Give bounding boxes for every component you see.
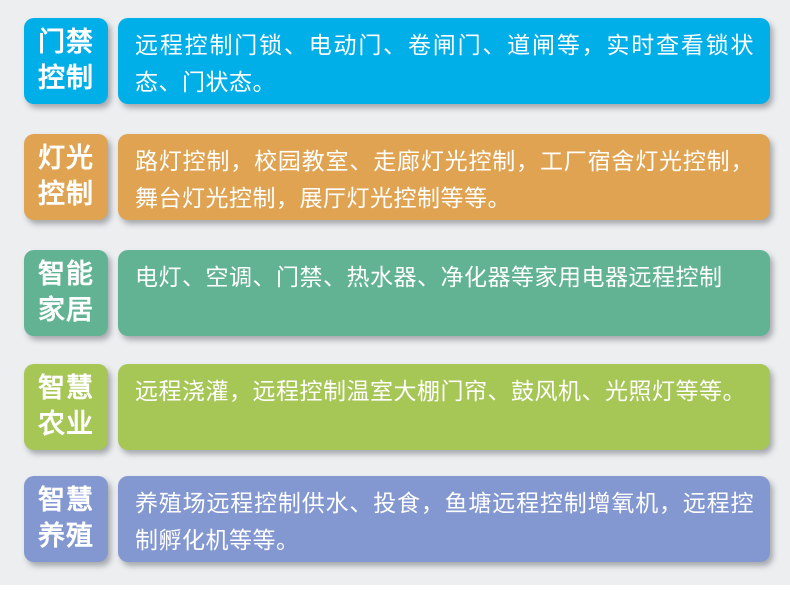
feature-label-line-2: 养殖 bbox=[38, 519, 94, 555]
feature-description: 远程控制门锁、电动门、卷闸门、道闸等，实时查看锁状态、门状态。 bbox=[135, 28, 754, 102]
feature-row: 智慧 农业 远程浇灌，远程控制温室大棚门帘、鼓风机、光照灯等等。 bbox=[0, 364, 790, 450]
feature-content-box: 路灯控制，校园教室、走廊灯光控制，工厂宿舍灯光控制，舞台灯光控制，展厅灯光控制等… bbox=[118, 134, 770, 220]
feature-description: 路灯控制，校园教室、走廊灯光控制，工厂宿舍灯光控制，舞台灯光控制，展厅灯光控制等… bbox=[135, 144, 754, 218]
feature-label-line-1: 灯光 bbox=[38, 141, 94, 177]
feature-description: 养殖场远程控制供水、投食，鱼塘远程控制增氧机，远程控制孵化机等等。 bbox=[135, 486, 754, 560]
feature-label-line-1: 智慧 bbox=[38, 371, 94, 407]
feature-description: 远程浇灌，远程控制温室大棚门帘、鼓风机、光照灯等等。 bbox=[135, 374, 754, 411]
feature-label-box: 智慧 养殖 bbox=[24, 476, 108, 562]
feature-label-line-1: 门禁 bbox=[38, 25, 94, 61]
feature-label-box: 灯光 控制 bbox=[24, 134, 108, 220]
feature-label-box: 智慧 农业 bbox=[24, 364, 108, 450]
feature-row: 智能 家居 电灯、空调、门禁、热水器、净化器等家用电器远程控制 bbox=[0, 250, 790, 336]
feature-list-panel: 门禁 控制 远程控制门锁、电动门、卷闸门、道闸等，实时查看锁状态、门状态。 灯光… bbox=[0, 0, 790, 585]
feature-content-box: 远程浇灌，远程控制温室大棚门帘、鼓风机、光照灯等等。 bbox=[118, 364, 770, 450]
feature-label-line-2: 控制 bbox=[38, 177, 94, 213]
feature-row: 灯光 控制 路灯控制，校园教室、走廊灯光控制，工厂宿舍灯光控制，舞台灯光控制，展… bbox=[0, 134, 790, 220]
feature-label-line-1: 智能 bbox=[38, 257, 94, 293]
feature-content-box: 养殖场远程控制供水、投食，鱼塘远程控制增氧机，远程控制孵化机等等。 bbox=[118, 476, 770, 562]
feature-label-line-2: 家居 bbox=[38, 293, 94, 329]
feature-row: 门禁 控制 远程控制门锁、电动门、卷闸门、道闸等，实时查看锁状态、门状态。 bbox=[0, 18, 790, 104]
feature-label-line-2: 控制 bbox=[38, 61, 94, 97]
feature-label-line-2: 农业 bbox=[38, 407, 94, 443]
feature-label-box: 智能 家居 bbox=[24, 250, 108, 336]
feature-row: 智慧 养殖 养殖场远程控制供水、投食，鱼塘远程控制增氧机，远程控制孵化机等等。 bbox=[0, 476, 790, 562]
feature-description: 电灯、空调、门禁、热水器、净化器等家用电器远程控制 bbox=[135, 260, 754, 297]
feature-label-box: 门禁 控制 bbox=[24, 18, 108, 104]
feature-label-line-1: 智慧 bbox=[38, 483, 94, 519]
feature-content-box: 远程控制门锁、电动门、卷闸门、道闸等，实时查看锁状态、门状态。 bbox=[118, 18, 770, 104]
feature-content-box: 电灯、空调、门禁、热水器、净化器等家用电器远程控制 bbox=[118, 250, 770, 336]
